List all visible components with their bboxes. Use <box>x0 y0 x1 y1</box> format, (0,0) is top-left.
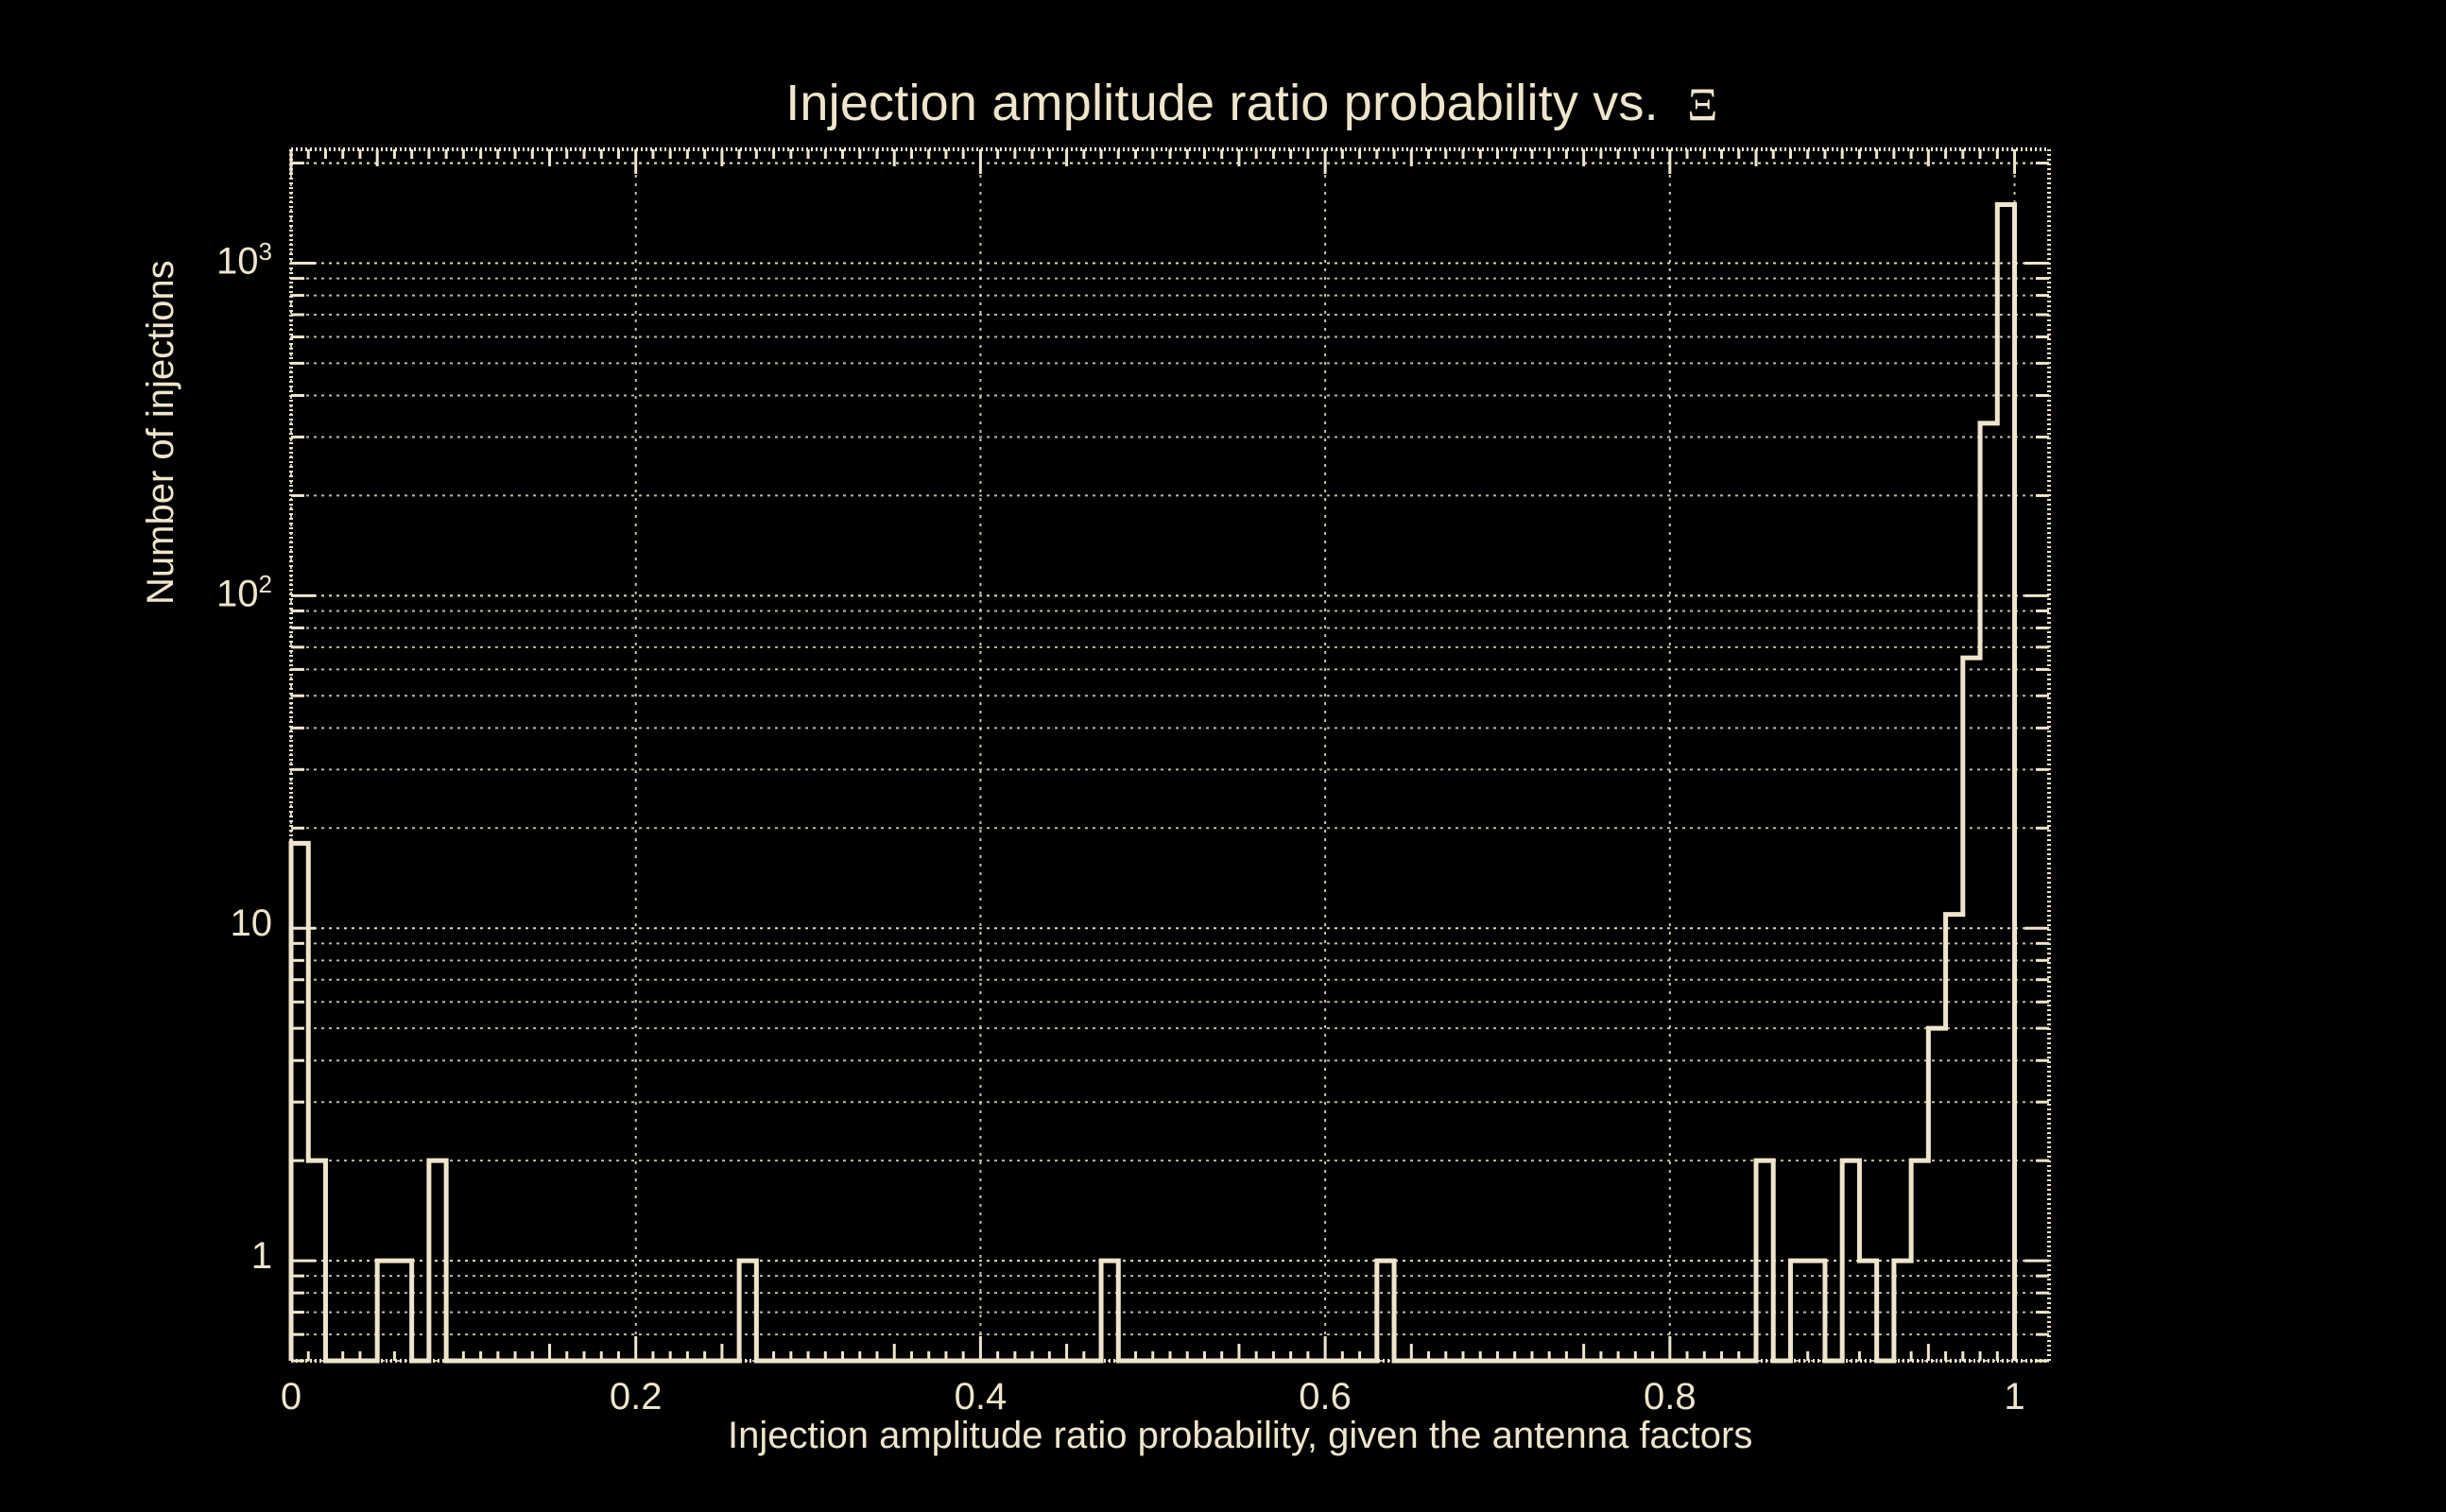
plot-canvas: Injection amplitude ratio probability vs… <box>0 0 2446 1512</box>
axis-tick-layer <box>291 149 2049 1361</box>
histogram-outline <box>291 205 2015 1361</box>
axis-frame <box>291 149 2049 1361</box>
grid-layer <box>291 149 2049 1361</box>
plot-area <box>0 0 2446 1512</box>
